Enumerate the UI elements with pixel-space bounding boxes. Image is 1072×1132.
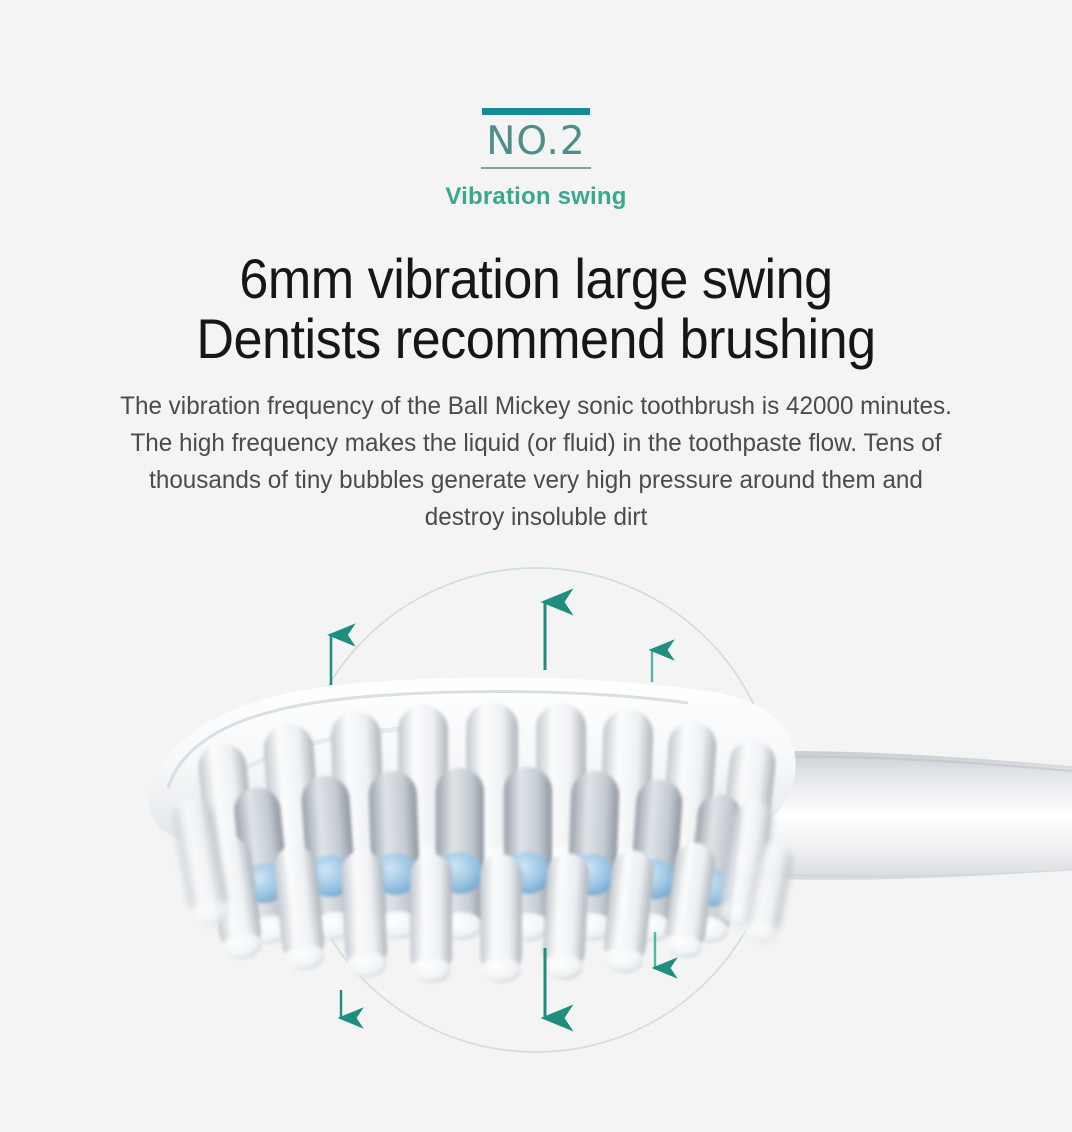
description-paragraph: The vibration frequency of the Ball Mick… <box>56 388 1016 536</box>
badge-top-rule <box>482 108 590 115</box>
paragraph-line-4: destroy insoluble dirt <box>70 499 1001 536</box>
badge-number: NO.2 <box>0 119 1072 165</box>
product-feature-page: NO.2 Vibration swing 6mm vibration large… <box>0 0 1072 1132</box>
headline-line-1: 6mm vibration large swing <box>38 249 1035 309</box>
toothbrush-head-vibration-diagram <box>0 540 1072 1100</box>
badge-bottom-rule <box>481 167 591 169</box>
page-title: 6mm vibration large swing Dentists recom… <box>0 249 1072 369</box>
paragraph-line-3: thousands of tiny bubbles generate very … <box>70 462 1001 499</box>
paragraph-line-2: The high frequency makes the liquid (or … <box>70 425 1001 462</box>
toothbrush-illustration <box>0 540 1072 1100</box>
headline-line-2: Dentists recommend brushing <box>38 309 1035 369</box>
paragraph-line-1: The vibration frequency of the Ball Mick… <box>70 388 1001 425</box>
section-badge: NO.2 Vibration swing <box>0 108 1072 211</box>
badge-subtitle: Vibration swing <box>0 183 1072 211</box>
